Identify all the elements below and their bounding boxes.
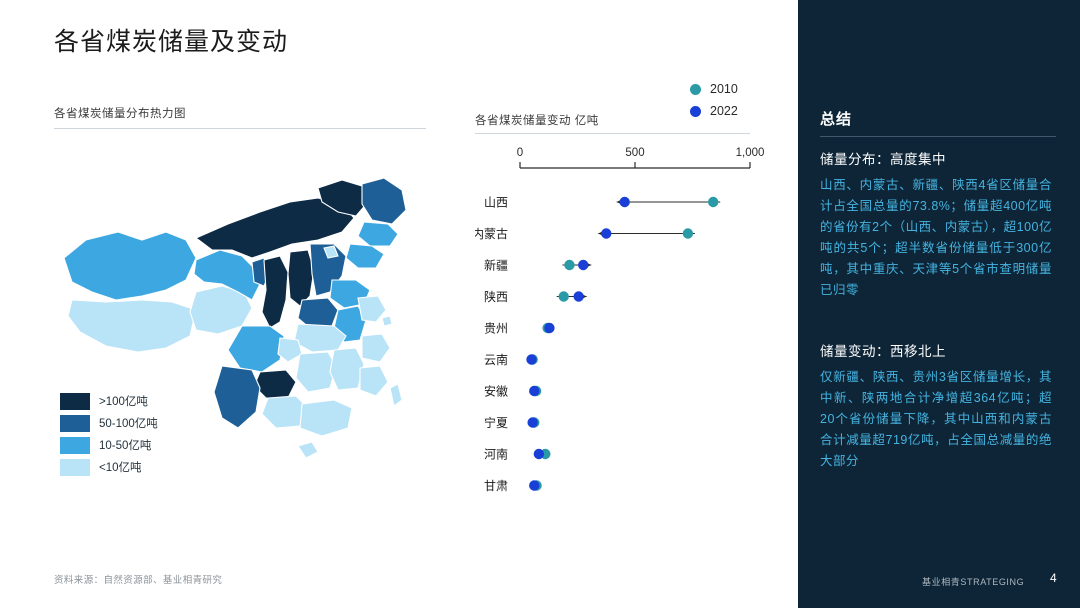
data-point-2010: [564, 260, 574, 270]
data-point-2010: [559, 291, 569, 301]
legend-item: 10-50亿吨: [60, 434, 158, 456]
data-point-2022: [529, 480, 539, 490]
category-label: 山西: [484, 196, 508, 210]
data-point-2022: [544, 323, 554, 333]
category-label: 贵州: [484, 322, 508, 336]
summary-title: 总结: [820, 108, 852, 129]
chart-legend: 2010 2022: [690, 78, 738, 122]
data-point-2022: [601, 228, 611, 238]
data-point-2022: [527, 417, 537, 427]
legend-swatch-gt100: [60, 393, 90, 410]
legend-swatch-lt10: [60, 459, 90, 476]
x-axis-tick-label: 500: [625, 147, 644, 159]
legend-label-2022: 2022: [710, 104, 738, 118]
left-content-panel: 各省煤炭储量及变动 各省煤炭储量分布热力图: [0, 0, 786, 608]
map-caption: 各省煤炭储量分布热力图: [54, 105, 186, 121]
page-number: 4: [1050, 571, 1057, 585]
category-label: 安徽: [484, 384, 508, 399]
data-point-2010: [708, 197, 718, 207]
map-legend: >100亿吨 50-100亿吨 10-50亿吨 <10亿吨: [60, 390, 158, 478]
legend-item: >100亿吨: [60, 390, 158, 412]
legend-label-10-50: 10-50亿吨: [99, 437, 151, 453]
page-title: 各省煤炭储量及变动: [54, 22, 288, 58]
summary-body-1: 山西、内蒙古、新疆、陕西4省区储量合计占全国总量的73.8%；储量超400亿吨的…: [820, 175, 1052, 301]
data-point-2022: [529, 386, 539, 396]
chart-caption: 各省煤炭储量变动 亿吨: [475, 112, 599, 128]
chart-legend-item-2010: 2010: [690, 78, 738, 100]
category-label: 河南: [484, 447, 508, 462]
map-divider: [54, 128, 426, 129]
summary-panel: 总结 储量分布：高度集中 山西、内蒙古、新疆、陕西4省区储量合计占全国总量的73…: [798, 0, 1080, 608]
legend-swatch-50-100: [60, 415, 90, 432]
category-label: 内蒙古: [475, 226, 508, 241]
x-axis-tick-label: 0: [517, 147, 523, 159]
footer-brand: 基业相青STRATEGING: [922, 575, 1024, 588]
x-axis-tick-label: 1,000: [736, 147, 765, 159]
legend-item: 50-100亿吨: [60, 412, 158, 434]
chart-legend-item-2022: 2022: [690, 100, 738, 122]
summary-body-2: 仅新疆、陕西、贵州3省区储量增长，其中新、陕两地合计净增超364亿吨；超20个省…: [820, 367, 1052, 472]
legend-item: <10亿吨: [60, 456, 158, 478]
dot-plot: 05001,000山西内蒙古新疆陕西贵州云南安徽宁夏河南甘肃: [475, 140, 765, 515]
summary-heading-1: 储量分布：高度集中: [820, 148, 946, 168]
slide: 各省煤炭储量及变动 各省煤炭储量分布热力图: [0, 0, 1080, 608]
legend-dot-2022: [690, 106, 701, 117]
category-label: 甘肃: [484, 479, 508, 493]
category-label: 云南: [484, 352, 508, 367]
legend-label-2010: 2010: [710, 82, 738, 96]
data-point-2010: [683, 228, 693, 238]
legend-label-50-100: 50-100亿吨: [99, 415, 158, 431]
legend-label-lt10: <10亿吨: [99, 459, 142, 475]
category-label: 新疆: [484, 258, 508, 273]
data-point-2022: [534, 449, 544, 459]
summary-heading-2: 储量变动：西移北上: [820, 340, 946, 360]
legend-dot-2010: [690, 84, 701, 95]
data-point-2022: [578, 260, 588, 270]
data-point-2022: [573, 291, 583, 301]
summary-divider: [820, 136, 1056, 137]
legend-label-gt100: >100亿吨: [99, 393, 148, 409]
category-label: 宁夏: [484, 415, 508, 430]
data-point-2022: [526, 354, 536, 364]
data-point-2022: [619, 197, 629, 207]
source-note: 资料来源：自然资源部、基业相青研究: [54, 572, 222, 586]
category-label: 陕西: [484, 289, 508, 304]
legend-swatch-10-50: [60, 437, 90, 454]
chart-divider: [475, 133, 750, 134]
